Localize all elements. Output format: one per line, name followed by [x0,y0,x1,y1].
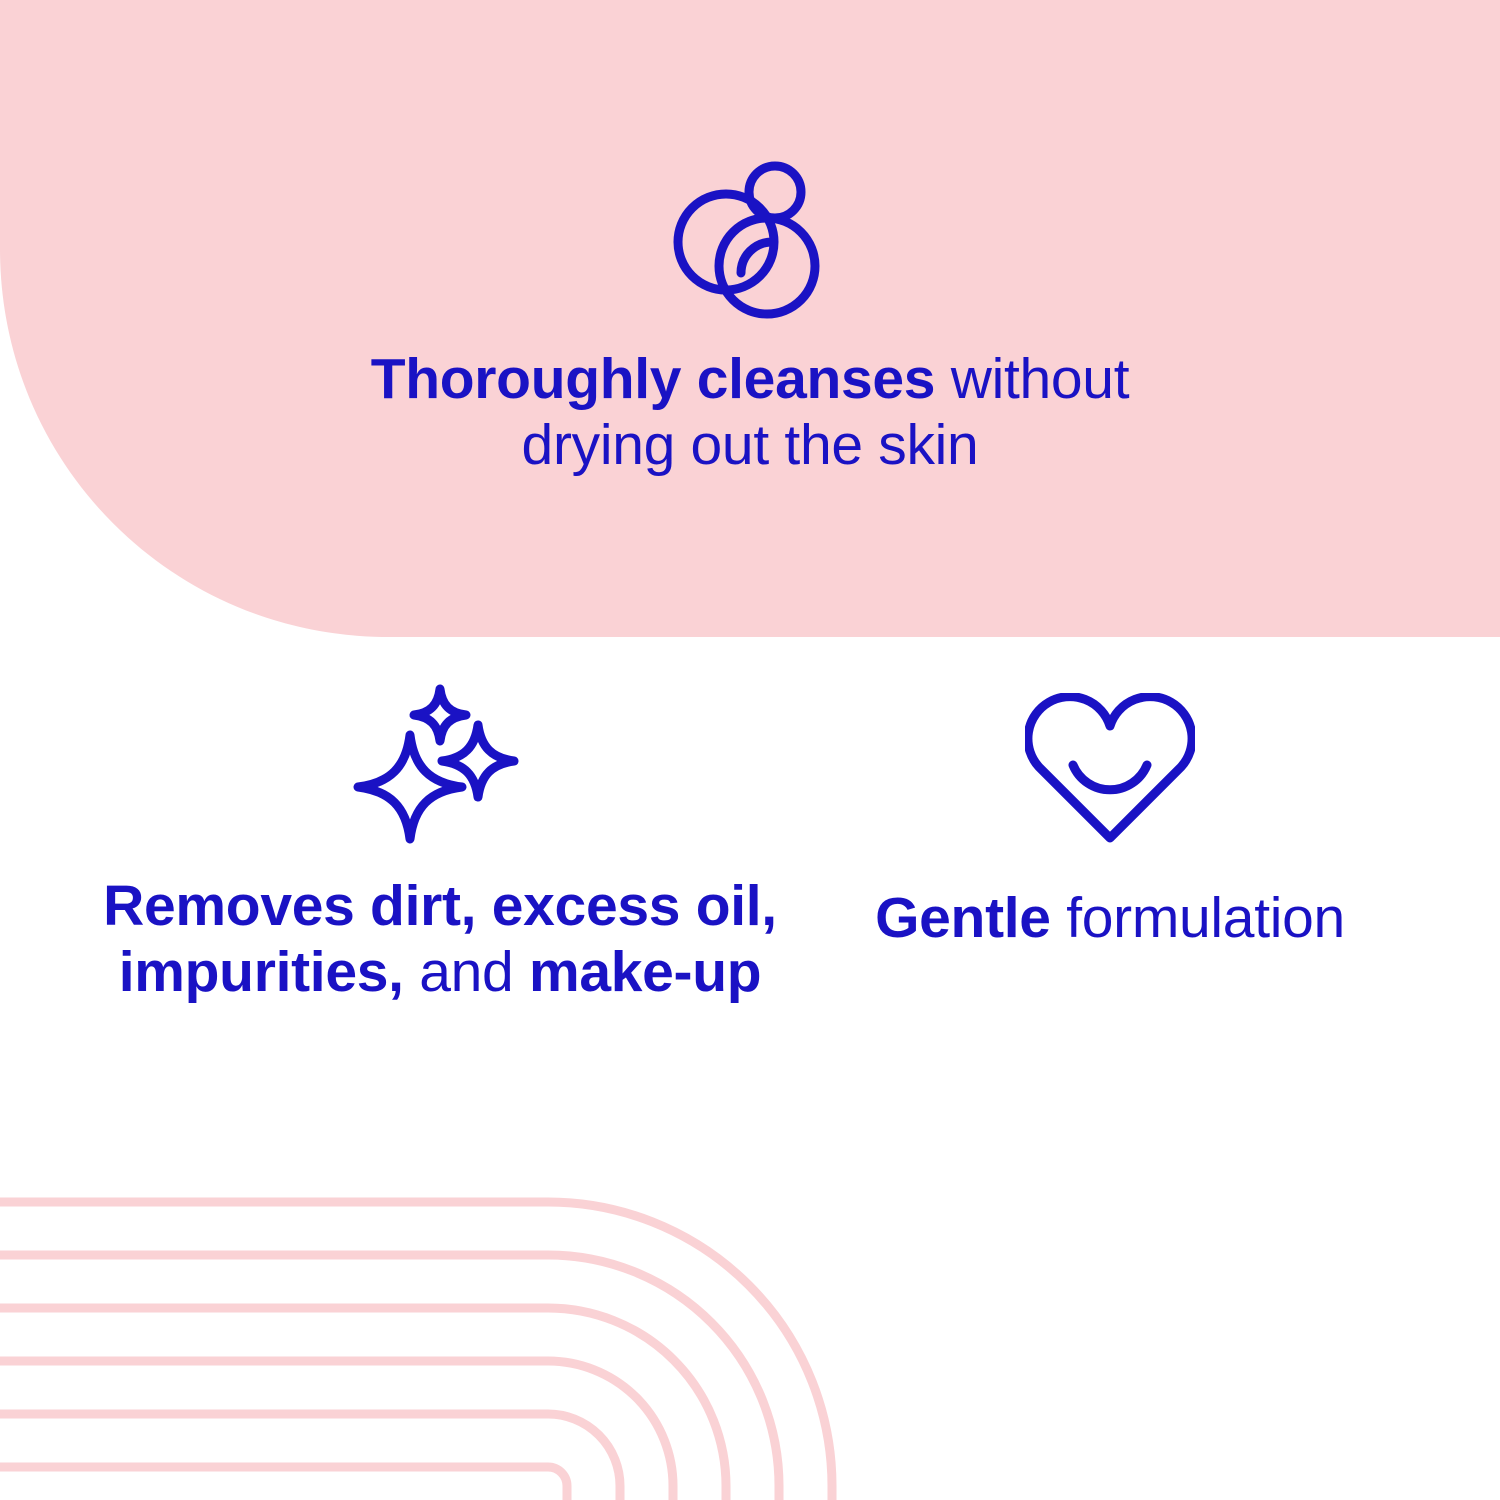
bubbles-icon-wrap [370,140,1130,320]
caption-bold-lead: Gentle [875,886,1051,950]
promo-graphic: Thoroughly cleanses without drying out t… [0,0,1500,1500]
pink-concentric-arcs [0,1150,900,1500]
sparkles-icon-wrap [60,665,820,845]
feature-caption-cleanses: Thoroughly cleanses without drying out t… [370,346,1130,478]
bubbles-icon [670,160,830,320]
sparkles-icon [352,669,528,845]
heart-smile-icon-wrap [800,680,1420,845]
feature-caption-removes: Removes dirt, excess oil, impurities, an… [60,873,820,1005]
caption-bold-lead: Thoroughly cleanses [371,347,935,411]
arcs-svg [0,1150,900,1500]
feature-caption-gentle: Gentle formulation [800,885,1420,951]
caption-bold-tail: make-up [529,940,761,1004]
feature-block-removes: Removes dirt, excess oil, impurities, an… [60,665,820,1005]
feature-block-gentle: Gentle formulation [800,680,1420,951]
feature-block-cleanses: Thoroughly cleanses without drying out t… [370,140,1130,478]
heart-smile-icon [1025,693,1195,845]
caption-middle: and [404,940,529,1004]
caption-rest: formulation [1051,886,1345,950]
